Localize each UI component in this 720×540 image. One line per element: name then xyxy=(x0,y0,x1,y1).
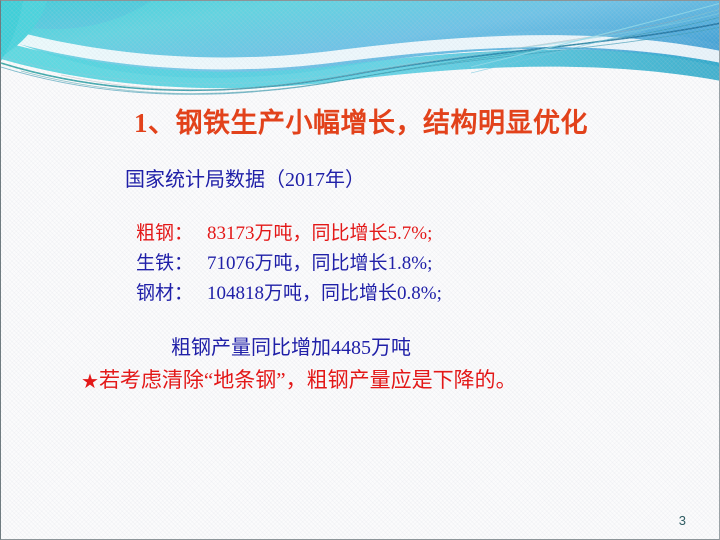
stat-label: 生铁： xyxy=(136,249,193,279)
stat-label: 粗钢： xyxy=(136,219,193,249)
page-number: 3 xyxy=(679,513,686,528)
stat-value: 104818万吨，同比增长0.8%; xyxy=(193,279,442,309)
summary-text: 粗钢产量同比增加4485万吨 xyxy=(171,331,411,360)
highlight-note: ★若考虑清除“地条钢”，粗钢产量应是下降的。 xyxy=(81,364,517,394)
stat-value: 83173万吨，同比增长5.7%; xyxy=(193,219,432,249)
list-item: 生铁：71076万吨，同比增长1.8%; xyxy=(136,249,442,279)
stat-value: 71076万吨，同比增长1.8%; xyxy=(193,249,432,279)
stat-label: 钢材： xyxy=(136,279,193,309)
presentation-slide: 1、钢铁生产小幅增长，结构明显优化 国家统计局数据（2017年） 粗钢：8317… xyxy=(0,0,720,540)
slide-content: 1、钢铁生产小幅增长，结构明显优化 国家统计局数据（2017年） 粗钢：8317… xyxy=(1,1,719,539)
statistics-list: 粗钢：83173万吨，同比增长5.7%; 生铁：71076万吨，同比增长1.8%… xyxy=(136,219,442,309)
highlight-note-text: 若考虑清除“地条钢”，粗钢产量应是下降的。 xyxy=(99,368,517,392)
list-item: 钢材：104818万吨，同比增长0.8%; xyxy=(136,279,442,309)
star-icon: ★ xyxy=(81,369,99,393)
slide-title: 1、钢铁生产小幅增长，结构明显优化 xyxy=(1,101,720,140)
list-item: 粗钢：83173万吨，同比增长5.7%; xyxy=(136,219,442,249)
data-source-subtitle: 国家统计局数据（2017年） xyxy=(125,163,365,192)
